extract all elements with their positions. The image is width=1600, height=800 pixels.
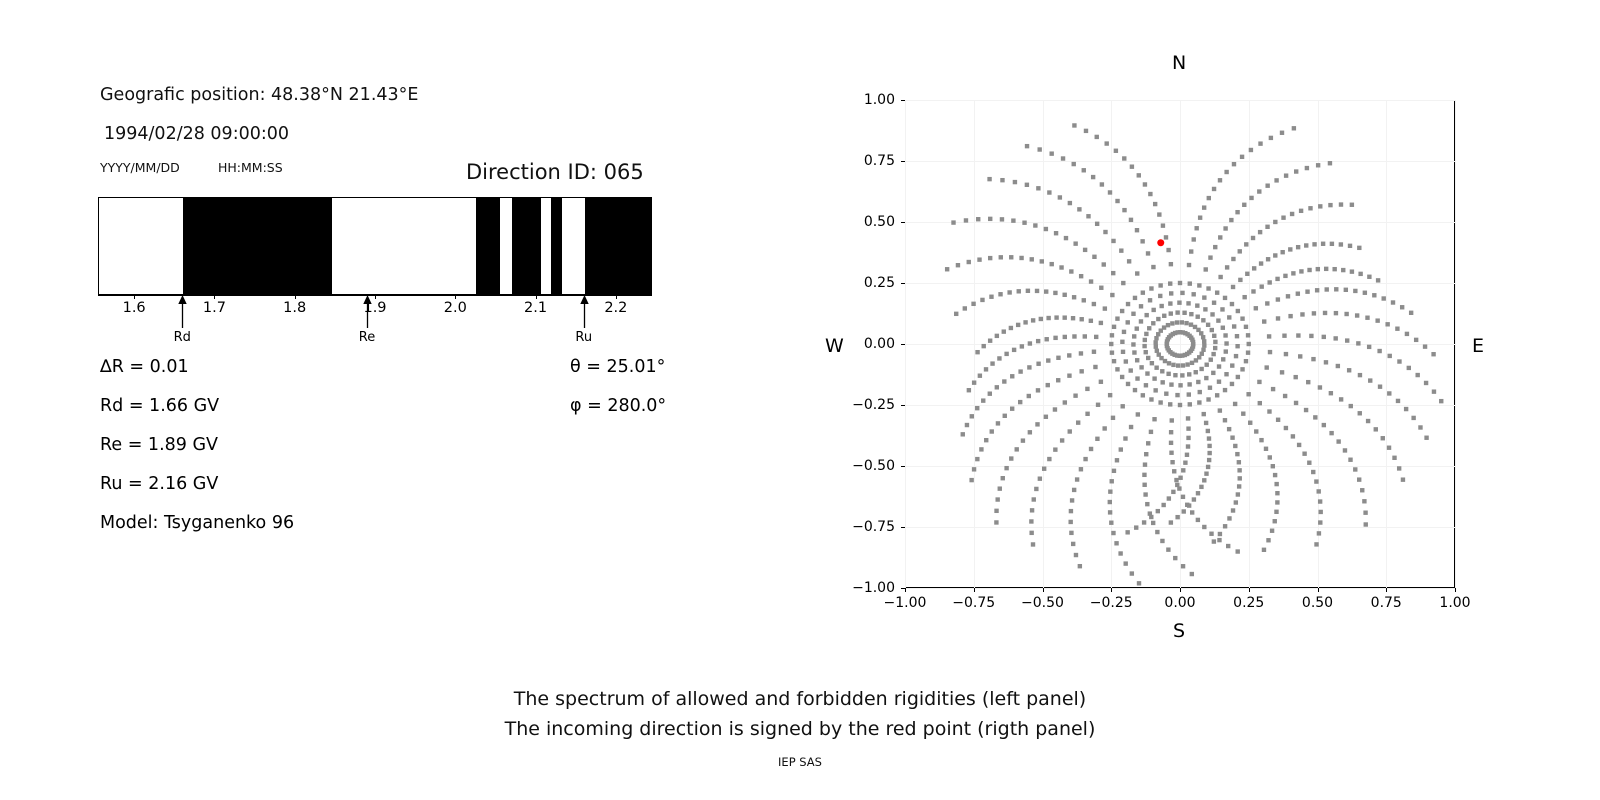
direction-point [1122,208,1126,212]
y-axis-tick [901,466,905,467]
direction-point [1251,289,1255,293]
direction-point [1339,242,1343,246]
direction-point [1266,538,1270,542]
direction-point [1173,556,1177,560]
direction-point [1231,285,1235,289]
direction-point [1077,207,1081,211]
direction-point [1207,436,1211,440]
x-axis-tick [1318,588,1319,592]
direction-point [1356,341,1360,345]
direction-point [1209,532,1213,536]
direction-point [1349,404,1353,408]
direction-point [1321,242,1325,246]
direction-point [1092,255,1096,259]
footer-credit: IEP SAS [0,755,1600,769]
direction-point [1325,287,1329,291]
direction-point [1439,399,1443,403]
direction-point [1309,334,1313,338]
direction-point [1018,400,1022,404]
direction-point [1160,539,1164,543]
direction-point [1207,444,1211,448]
rigidity-spectrum-panel: Geografic position: 48.38°N 21.43°E 1994… [0,0,760,660]
caption-line-1: The spectrum of allowed and forbidden ri… [0,684,1600,714]
direction-point [1252,266,1256,270]
direction-point [1049,151,1053,155]
spectrum-axis: 1.61.71.81.92.02.12.2RdReRu [98,295,652,355]
direction-point [1131,342,1135,346]
direction-point [1021,438,1025,442]
direction-point [995,385,999,389]
direction-point [1139,319,1143,323]
direction-point [1035,422,1039,426]
direction-point [1018,369,1022,373]
direction-point [987,177,991,181]
direction-point [1238,278,1242,282]
direction-point [1328,161,1332,165]
direction-point [1143,462,1147,466]
compass-north-label: N [1172,52,1186,74]
direction-point [1313,415,1317,419]
direction-point [1276,316,1280,320]
direction-point [972,467,976,471]
incoming-direction-point [1157,239,1164,246]
direction-point [1318,499,1322,503]
direction-point [1283,394,1287,398]
direction-point [1366,419,1370,423]
direction-point [979,447,983,451]
direction-point [1204,376,1208,380]
direction-point [1016,323,1020,327]
direction-point [1079,351,1083,355]
direction-point [1249,148,1253,152]
direction-point [1280,370,1284,374]
direction-point [1135,326,1139,330]
x-axis-tick-label: 0.00 [1164,595,1195,611]
direction-point [1044,227,1048,231]
direction-point [1311,357,1315,361]
forbidden-band [585,198,652,294]
direction-point [1367,275,1371,279]
direction-point [1334,311,1338,315]
direction-point [1153,340,1157,344]
direction-point [1082,168,1086,172]
direction-point [1269,136,1273,140]
direction-point [1247,342,1251,346]
direction-point [1004,352,1008,356]
direction-point [1249,196,1253,200]
direction-point [1274,178,1278,182]
direction-point [1224,372,1228,376]
direction-point [1180,291,1184,295]
direction-point [980,298,984,302]
direction-point [954,312,958,316]
direction-point [1119,248,1123,252]
direction-point [1217,364,1221,368]
asymptotic-direction-panel: N S W E −1.00−0.75−0.50−0.250.000.250.50… [840,40,1540,660]
direction-point [1182,509,1186,513]
direction-point [1273,473,1277,477]
direction-point [1397,359,1401,363]
direction-point [1329,431,1333,435]
direction-point [1168,281,1172,285]
direction-point [1030,257,1034,261]
direction-point [1190,572,1194,576]
direction-point [988,217,992,221]
direction-point [1111,239,1115,243]
direction-point [969,478,973,482]
direction-point [1169,311,1173,315]
direction-point [1110,333,1114,337]
direction-point [1273,253,1277,257]
direction-point [1231,508,1235,512]
direction-point [1131,312,1135,316]
axis-tick-label: 1.8 [283,300,306,316]
direction-point [1166,323,1170,327]
direction-point [1143,182,1147,186]
direction-point [1365,316,1369,320]
direction-point [1281,215,1285,219]
direction-point [1015,447,1019,451]
direction-point [1409,311,1413,315]
direction-point [1223,524,1227,528]
direction-point [1302,452,1306,456]
direction-point [1108,393,1112,397]
direction-point [1133,388,1137,392]
direction-point [1188,281,1192,285]
x-axis-tick-label: −0.25 [1090,595,1133,611]
direction-point [1230,382,1234,386]
direction-point [1304,243,1308,247]
direction-point [1115,199,1119,203]
direction-point [1288,314,1292,318]
direction-point [1206,465,1210,469]
direction-point [1074,553,1078,557]
direction-point [1167,361,1171,365]
direction-point [1215,290,1219,294]
direction-point [1076,420,1080,424]
direction-point [1317,531,1321,535]
direction-point [1235,452,1239,456]
direction-point [1085,387,1089,391]
direction-point [998,486,1002,490]
direction-point [975,457,979,461]
direction-point [1275,500,1279,504]
direction-point [967,388,971,392]
direction-point [1208,255,1212,259]
direction-point [1280,250,1284,254]
direction-point [1230,302,1234,306]
direction-point [972,380,976,384]
direction-point [1162,325,1166,329]
direction-point [1330,242,1334,246]
direction-point [1046,316,1050,320]
direction-point [1129,368,1133,372]
direction-point [988,256,992,260]
direction-point [1265,225,1269,229]
param-ru: Ru = 2.16 GV [100,474,218,494]
direction-point [1268,455,1272,459]
axis-tick [295,295,296,299]
direction-point [1212,334,1216,338]
direction-point [1061,156,1065,160]
direction-point [1154,344,1158,348]
direction-point [1137,173,1141,177]
direction-point [1079,369,1083,373]
direction-point [1212,187,1216,191]
direction-point [1240,155,1244,159]
direction-point [995,334,999,338]
direction-point [1020,344,1024,348]
direction-point [1273,519,1277,523]
direction-point [1026,289,1030,293]
param-re: Re = 1.89 GV [100,435,218,455]
direction-point [1283,274,1287,278]
direction-point [1324,360,1328,364]
direction-point [1226,544,1230,548]
direction-point [1233,444,1237,448]
direction-point [1305,289,1309,293]
direction-point [1415,373,1419,377]
direction-point [1013,180,1017,184]
direction-point [1182,311,1186,315]
x-axis-tick-label: 0.75 [1371,595,1402,611]
direction-point [1227,315,1231,319]
direction-point [1199,331,1203,335]
direction-point [1189,312,1193,316]
scatter-points-layer [905,100,1455,588]
direction-point [1162,314,1166,318]
direction-point [1060,438,1064,442]
direction-point [1000,178,1004,182]
direction-point [1218,235,1222,239]
direction-point [977,257,981,261]
param-delta-r: ∆R = 0.01 [100,357,189,377]
direction-point [1102,426,1106,430]
direction-point [1268,350,1272,354]
direction-point [1059,265,1063,269]
direction-point [1282,334,1286,338]
direction-point [1202,525,1206,529]
direction-point [1072,123,1076,127]
direction-point [1363,511,1367,515]
direction-point [1173,373,1177,377]
direction-point [1241,411,1245,415]
direction-point [1063,315,1067,319]
direction-point [1083,334,1087,338]
direction-point [1397,466,1401,470]
direction-point [1400,305,1404,309]
direction-point [1184,321,1188,325]
polar-scatter-plot [905,100,1455,588]
direction-point [1126,320,1130,324]
direction-point [1353,467,1357,471]
direction-point [1100,182,1104,186]
forbidden-band [183,198,332,294]
direction-point [1296,245,1300,249]
x-axis-tick-label: −1.00 [884,595,927,611]
direction-point [1034,487,1038,491]
direction-point [1072,334,1076,338]
direction-point [1230,435,1234,439]
direction-point [1234,500,1238,504]
x-axis-tick-label: −0.75 [952,595,995,611]
rigidity-marker-label: Ru [575,330,592,345]
direction-point [1035,289,1039,293]
direction-point [1158,294,1162,298]
direction-point [1257,189,1261,193]
x-axis-tick-label: −0.50 [1021,595,1064,611]
direction-point [1053,407,1057,411]
direction-point [989,295,993,299]
direction-point [1046,358,1050,362]
direction-point [1357,477,1361,481]
direction-point [1223,418,1227,422]
direction-point [1216,318,1220,322]
direction-point [1206,323,1210,327]
direction-point [1358,373,1362,377]
direction-point [1318,204,1322,208]
direction-point [1094,335,1098,339]
direction-point [1185,503,1189,507]
direction-point [1160,380,1164,384]
direction-point [1189,249,1193,253]
direction-point [1248,421,1252,425]
x-axis-tick [905,588,906,592]
direction-point [1230,363,1234,367]
direction-point [1257,380,1261,384]
direction-point [1206,397,1210,401]
direction-point [1424,381,1428,385]
direction-point [1121,281,1125,285]
direction-point [1187,263,1191,267]
direction-point [1195,303,1199,307]
direction-point [1072,295,1076,299]
direction-point [1149,286,1153,290]
direction-point [1232,162,1236,166]
direction-point [1306,380,1310,384]
direction-point [1215,393,1219,397]
direction-point [1258,230,1262,234]
direction-point [1372,293,1376,297]
direction-point [1027,365,1031,369]
direction-point [1099,321,1103,325]
direction-point [1110,293,1114,297]
direction-point [1028,341,1032,345]
direction-point [965,423,969,427]
direction-point [1095,135,1099,139]
direction-point [1314,479,1318,483]
y-axis-tick-label: −0.75 [843,519,895,535]
direction-point [1345,338,1349,342]
y-axis-tick [901,283,905,284]
direction-point [1180,373,1184,377]
direction-point [1144,313,1148,317]
spectrum-bar [98,197,652,295]
y-axis-tick-label: 0.25 [843,275,895,291]
direction-point [1151,521,1155,525]
direction-point [1056,356,1060,360]
direction-point [1411,416,1415,420]
direction-point [1376,278,1380,282]
direction-point [1089,279,1093,283]
axis-tick-label: 2.0 [444,300,467,316]
direction-point [1275,491,1279,495]
direction-point [1237,468,1241,472]
direction-point [1288,247,1292,251]
direction-point [1208,386,1212,390]
direction-point [1075,477,1079,481]
direction-point [1126,302,1130,306]
direction-point [1368,378,1372,382]
direction-point [1273,220,1277,224]
direction-point [1317,489,1321,493]
direction-point [1033,223,1037,227]
direction-point [1169,382,1173,386]
direction-point [1091,175,1095,179]
direction-point [990,361,994,365]
direction-point [1251,236,1255,240]
direction-point [1217,380,1221,384]
direction-point [1140,239,1144,243]
direction-point [1010,407,1014,411]
direction-point [1341,268,1345,272]
direction-point [1336,364,1340,368]
direction-point [1153,388,1157,392]
direction-point [1348,458,1352,462]
direction-point [1069,531,1073,535]
direction-point [1047,190,1051,194]
direction-point [1294,375,1298,379]
direction-point [1002,329,1006,333]
direction-point [1152,417,1156,421]
direction-point [1095,437,1099,441]
direction-point [1080,317,1084,321]
direction-point [1358,411,1362,415]
direction-point [1067,353,1071,357]
direction-point [1118,551,1122,555]
direction-point [1189,322,1193,326]
direction-point [1111,416,1115,420]
direction-point [1144,452,1148,456]
direction-point [1284,352,1288,356]
direction-point [1072,162,1076,166]
direction-point [1196,315,1200,319]
axis-tick [375,295,376,299]
direction-point [1031,318,1035,322]
direction-point [1159,304,1163,308]
direction-point [1334,287,1338,291]
direction-point [1204,421,1208,425]
direction-point [1212,539,1216,543]
direction-point [1000,217,1004,221]
direction-point [1339,202,1343,206]
direction-point [1271,387,1275,391]
up-arrow-icon [362,294,373,328]
direction-point [1299,209,1303,213]
direction-point [1265,301,1269,305]
rigidity-marker-label: Re [359,330,375,345]
direction-point [1139,304,1143,308]
direction-point [1262,548,1266,552]
direction-point [1124,359,1128,363]
direction-point [1246,350,1250,354]
direction-point [1322,335,1326,339]
direction-point [1227,516,1231,520]
direction-point [1141,290,1145,294]
direction-point [988,339,992,343]
direction-point [1112,469,1116,473]
direction-point [1135,228,1139,232]
